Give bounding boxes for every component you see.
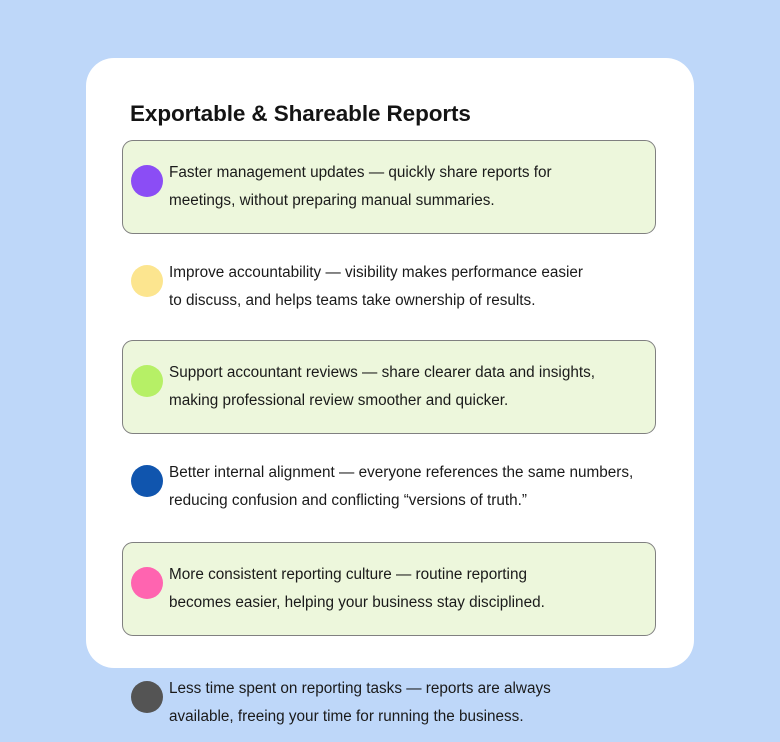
list-item[interactable]: Improve accountability — visibility make… xyxy=(122,248,656,326)
purple-bullet xyxy=(131,165,163,197)
report-benefits-card: Exportable & Shareable Reports Faster ma… xyxy=(86,58,694,668)
list-item[interactable]: Faster management updates — quickly shar… xyxy=(122,140,656,234)
list-item-label: Improve accountability — visibility make… xyxy=(169,259,641,315)
list-item[interactable]: Support accountant reviews — share clear… xyxy=(122,340,656,434)
spacer xyxy=(86,526,694,542)
spacer xyxy=(86,326,694,340)
yellow-bullet xyxy=(131,265,163,297)
spacer xyxy=(86,434,694,448)
list-item-label: Support accountant reviews — share clear… xyxy=(169,359,641,415)
dark-gray-bullet xyxy=(131,681,163,713)
list-item[interactable]: Less time spent on reporting tasks — rep… xyxy=(122,664,656,742)
slide-canvas: Exportable & Shareable Reports Faster ma… xyxy=(0,0,780,728)
list-item-label: Less time spent on reporting tasks — rep… xyxy=(169,675,641,731)
list-item-label: More consistent reporting culture — rout… xyxy=(169,561,641,617)
list-item-label: Faster management updates — quickly shar… xyxy=(169,159,641,215)
list-item[interactable]: Better internal alignment — everyone ref… xyxy=(122,448,656,526)
blue-bullet xyxy=(131,465,163,497)
pink-bullet xyxy=(131,567,163,599)
spacer xyxy=(86,234,694,248)
list-item-label: Better internal alignment — everyone ref… xyxy=(169,459,641,515)
light-green-bullet xyxy=(131,365,163,397)
benefits-list: Faster management updates — quickly shar… xyxy=(86,140,694,742)
page-title: Exportable & Shareable Reports xyxy=(130,101,471,127)
list-item[interactable]: More consistent reporting culture — rout… xyxy=(122,542,656,636)
spacer xyxy=(86,636,694,664)
